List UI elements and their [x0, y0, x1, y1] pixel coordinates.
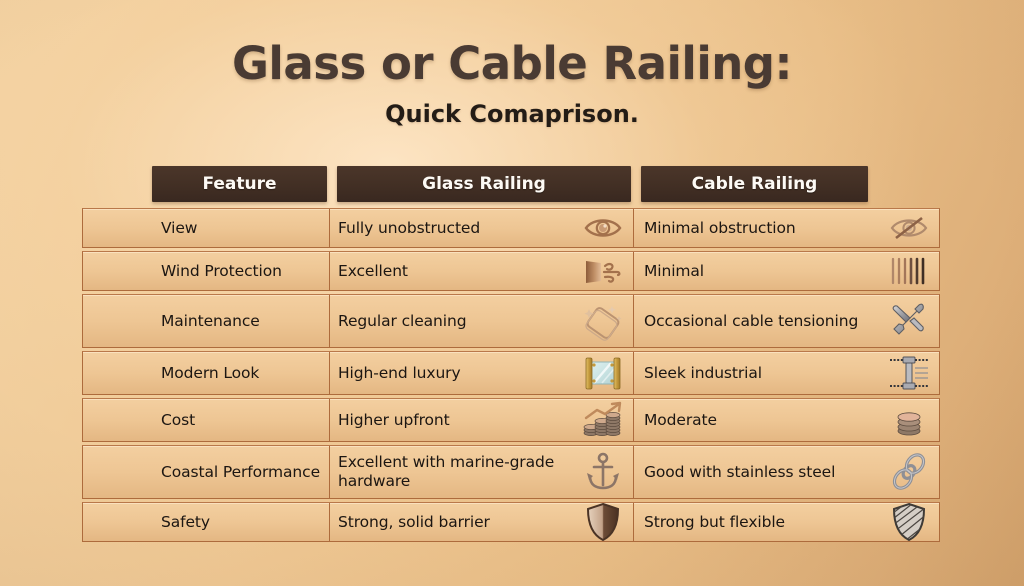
glass-cell: High-end luxury: [330, 352, 634, 394]
cable-cell: Sleek industrial: [634, 352, 939, 394]
glass-value: Strong, solid barrier: [338, 513, 490, 532]
table-row: Wind Protection Excellent: [82, 251, 940, 291]
column-header-glass-railing: Glass Railing: [337, 166, 631, 202]
feature-label: Maintenance: [161, 312, 260, 331]
cable-cell: Occasional cable tensioning: [634, 295, 939, 347]
page-subtitle: Quick Comaprison.: [0, 101, 1024, 127]
table-row: Modern Look High-end luxury: [82, 351, 940, 395]
feature-label: Wind Protection: [161, 262, 282, 281]
glass-cell: Higher upfront: [330, 399, 634, 441]
table-row: Cost Higher upfront: [82, 398, 940, 442]
table-row: View Fully unobstructed Minimal obst: [82, 208, 940, 248]
cable-value: Good with stainless steel: [644, 463, 835, 482]
anchor-icon: [581, 452, 625, 492]
comparison-poster: Glass or Cable Railing: Quick Comaprison…: [0, 0, 1024, 586]
cable-lines-icon: [887, 251, 931, 291]
tools-icon: [887, 301, 931, 341]
cable-value: Sleek industrial: [644, 364, 762, 383]
glass-cell: Fully unobstructed: [330, 209, 634, 247]
glass-panel-icon: [581, 353, 625, 393]
column-header-cable-railing: Cable Railing: [641, 166, 868, 202]
cable-cell: Moderate: [634, 399, 939, 441]
wind-panel-icon: [581, 251, 625, 291]
feature-cell: Modern Look: [83, 352, 330, 394]
feature-cell: Coastal Performance: [83, 446, 330, 498]
title-block: Glass or Cable Railing: Quick Comaprison…: [0, 40, 1024, 127]
glass-value: Higher upfront: [338, 411, 450, 430]
glass-cell: Excellent with marine-grade hardware: [330, 446, 634, 498]
glass-value: Regular cleaning: [338, 312, 466, 331]
cable-value: Minimal: [644, 262, 704, 281]
glass-value: Excellent: [338, 262, 408, 281]
glass-value: Excellent with marine-grade hardware: [338, 453, 577, 491]
cable-cell: Good with stainless steel: [634, 446, 939, 498]
feature-label: Coastal Performance: [161, 463, 320, 482]
rising-coins-icon: [581, 400, 625, 440]
cable-value: Strong but flexible: [644, 513, 785, 532]
feature-label: Safety: [161, 513, 210, 532]
eye-icon: [581, 208, 625, 248]
table-body: View Fully unobstructed Minimal obst: [82, 208, 940, 542]
chain-link-icon: [887, 452, 931, 492]
comparison-table: Feature Glass Railing Cable Railing View…: [82, 166, 940, 545]
table-header-row: Feature Glass Railing Cable Railing: [82, 166, 940, 202]
cable-value: Minimal obstruction: [644, 219, 796, 238]
glass-cell: Regular cleaning: [330, 295, 634, 347]
feature-label: View: [161, 219, 197, 238]
table-row: Coastal Performance Excellent with marin…: [82, 445, 940, 499]
column-header-feature: Feature: [152, 166, 327, 202]
feature-cell: Cost: [83, 399, 330, 441]
glass-cell: Excellent: [330, 252, 634, 290]
cable-fitting-icon: [887, 353, 931, 393]
feature-cell: Wind Protection: [83, 252, 330, 290]
table-row: Safety Strong, solid barrier: [82, 502, 940, 542]
feature-cell: Maintenance: [83, 295, 330, 347]
feature-cell: Safety: [83, 503, 330, 541]
sparkle-glass-icon: [581, 301, 625, 341]
table-row: Maintenance Regular cleaning: [82, 294, 940, 348]
feature-label: Modern Look: [161, 364, 259, 383]
glass-value: Fully unobstructed: [338, 219, 480, 238]
feature-label: Cost: [161, 411, 195, 430]
cable-cell: Strong but flexible: [634, 503, 939, 541]
shield-icon: [581, 502, 625, 542]
glass-value: High-end luxury: [338, 364, 461, 383]
cable-value: Occasional cable tensioning: [644, 312, 858, 331]
cable-cell: Minimal obstruction: [634, 209, 939, 247]
striped-shield-icon: [887, 502, 931, 542]
eye-slash-icon: [887, 208, 931, 248]
coin-stack-icon: [887, 400, 931, 440]
page-title: Glass or Cable Railing:: [0, 40, 1024, 89]
feature-cell: View: [83, 209, 330, 247]
cable-value: Moderate: [644, 411, 717, 430]
glass-cell: Strong, solid barrier: [330, 503, 634, 541]
cable-cell: Minimal: [634, 252, 939, 290]
